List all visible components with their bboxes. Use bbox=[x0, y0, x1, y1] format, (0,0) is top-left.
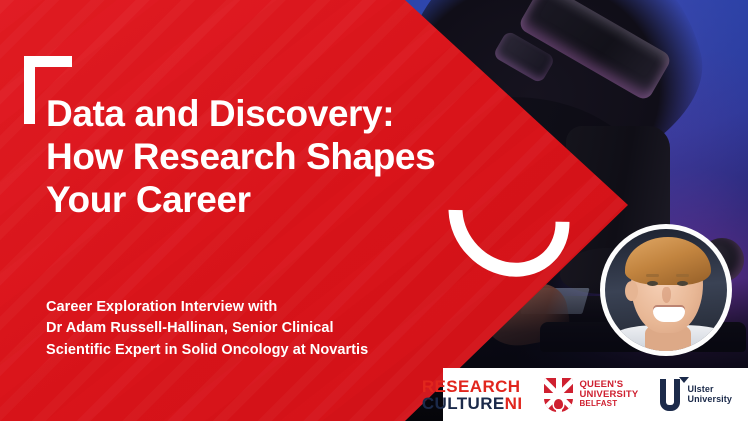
rcni-logo-culture-text: CULTURE bbox=[422, 394, 505, 413]
queens-logo-wordmark: QUEEN'S UNIVERSITY BELFAST bbox=[579, 380, 638, 408]
avatar-image bbox=[605, 229, 727, 351]
page-title-line-3: Your Career bbox=[46, 179, 516, 222]
speaker-credit-line-3: Scientific Expert in Solid Oncology at N… bbox=[46, 340, 466, 361]
portrait-eye-right bbox=[677, 281, 688, 286]
portrait-eyebrow-right bbox=[676, 274, 689, 277]
portrait-eyebrow-left bbox=[646, 274, 659, 277]
chevron-down-icon bbox=[679, 377, 689, 383]
ulster-university-logo: Ulster University bbox=[660, 377, 732, 413]
rcni-logo-line-1: RESEARCH bbox=[422, 378, 523, 395]
portrait-eye-left bbox=[647, 281, 658, 286]
speaker-credit: Career Exploration Interview with Dr Ada… bbox=[46, 297, 466, 361]
portrait-smile bbox=[653, 307, 685, 322]
queens-university-belfast-logo: QUEEN'S UNIVERSITY BELFAST bbox=[544, 378, 638, 412]
speaker-credit-line-1: Career Exploration Interview with bbox=[46, 297, 466, 318]
page-title-line-1: Data and Discovery: bbox=[46, 93, 516, 136]
page-title: Data and Discovery: How Research Shapes … bbox=[46, 93, 516, 222]
portrait-nose bbox=[662, 287, 671, 303]
page-title-line-2: How Research Shapes bbox=[46, 136, 516, 179]
queens-crest-icon bbox=[544, 378, 573, 412]
queens-logo-line-3: BELFAST bbox=[579, 400, 638, 408]
speaker-credit-line-2: Dr Adam Russell-Hallinan, Senior Clinica… bbox=[46, 318, 466, 339]
ulster-logo-line-2: University bbox=[687, 395, 732, 405]
queens-crest-seahorse bbox=[554, 399, 563, 409]
research-culture-ni-logo: RESEARCH CULTURENI bbox=[422, 378, 523, 412]
event-promo-poster: Data and Discovery: How Research Shapes … bbox=[0, 0, 748, 421]
rcni-logo-line-2: CULTURENI bbox=[422, 395, 523, 412]
ulster-u-shape bbox=[660, 379, 680, 411]
portrait-hair bbox=[625, 237, 711, 285]
rcni-logo-ni-text: NI bbox=[505, 394, 523, 413]
ulster-logo-wordmark: Ulster University bbox=[687, 385, 732, 404]
avatar bbox=[600, 224, 732, 356]
portrait-ear bbox=[625, 281, 638, 301]
ulster-u-mark-icon bbox=[660, 377, 682, 413]
partner-logo-strip: RESEARCH CULTURENI QUEEN'S UNIVERSITY BE… bbox=[0, 368, 748, 421]
